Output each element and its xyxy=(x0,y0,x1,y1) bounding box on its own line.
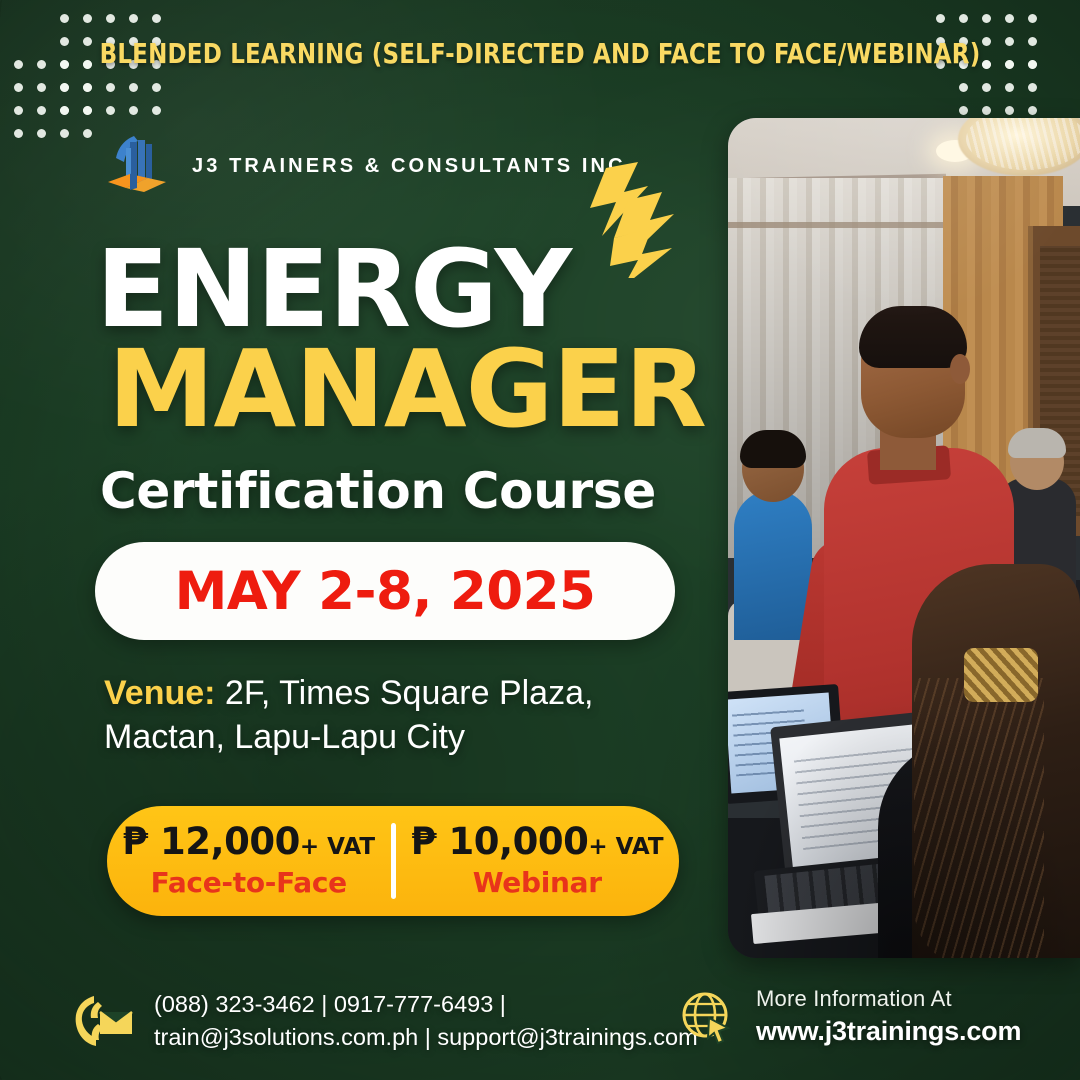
price-option-webinar: ₱ 10,000+ VAT Webinar xyxy=(396,823,680,899)
price-label-webinar: Webinar xyxy=(400,866,676,899)
pricing-banner: ₱ 12,000+ VAT Face-to-Face ₱ 10,000+ VAT… xyxy=(107,806,679,916)
date-text: MAY 2-8, 2025 xyxy=(175,561,596,622)
venue-block: Venue: 2F, Times Square Plaza, Mactan, L… xyxy=(104,672,704,759)
footer-website-block: More Information At www.j3trainings.com xyxy=(678,986,1021,1048)
title-subtitle: Certification Course xyxy=(100,462,656,520)
title-line-manager: MANAGER xyxy=(108,343,706,437)
price-vat: + VAT xyxy=(300,834,375,860)
price-label-face-to-face: Face-to-Face xyxy=(111,866,387,899)
venue-line-1: 2F, Times Square Plaza, xyxy=(215,674,593,712)
website-url[interactable]: www.j3trainings.com xyxy=(756,1015,1021,1047)
venue-line-2: Mactan, Lapu-Lapu City xyxy=(104,718,465,756)
price-value: ₱ 12,000 xyxy=(122,820,299,863)
website-text-block: More Information At www.j3trainings.com xyxy=(756,986,1021,1048)
contact-details: (088) 323-3462 | 0917-777-6493 | train@j… xyxy=(154,988,698,1055)
price-amount-face-to-face: ₱ 12,000+ VAT xyxy=(111,823,387,862)
poster-root: BLENDED LEARNING (SELF-DIRECTED AND FACE… xyxy=(0,0,1080,1080)
more-info-label: More Information At xyxy=(756,986,1021,1012)
contact-phones: (088) 323-3462 | 0917-777-6493 | xyxy=(154,988,698,1021)
date-badge: MAY 2-8, 2025 xyxy=(95,542,675,640)
footer-contact-block: (088) 323-3462 | 0917-777-6493 | train@j… xyxy=(72,988,698,1055)
title-line-energy: ENERGY xyxy=(96,243,706,337)
globe-cursor-icon xyxy=(678,988,736,1046)
venue-label: Venue: xyxy=(104,674,215,712)
page-title: ENERGY MANAGER xyxy=(96,243,706,437)
price-amount-webinar: ₱ 10,000+ VAT xyxy=(400,823,676,862)
j3-pillar-logo-icon xyxy=(104,132,176,200)
header-banner-text: BLENDED LEARNING (SELF-DIRECTED AND FACE… xyxy=(38,38,1042,70)
price-value: ₱ 10,000 xyxy=(411,820,588,863)
training-room-photo xyxy=(728,118,1080,958)
contact-emails: train@j3solutions.com.ph | support@j3tra… xyxy=(154,1021,698,1054)
brand-logo-row: J3 TRAINERS & CONSULTANTS INC. xyxy=(104,132,634,200)
phone-envelope-icon xyxy=(72,990,134,1052)
price-vat: + VAT xyxy=(588,834,663,860)
price-option-face-to-face: ₱ 12,000+ VAT Face-to-Face xyxy=(107,823,391,899)
